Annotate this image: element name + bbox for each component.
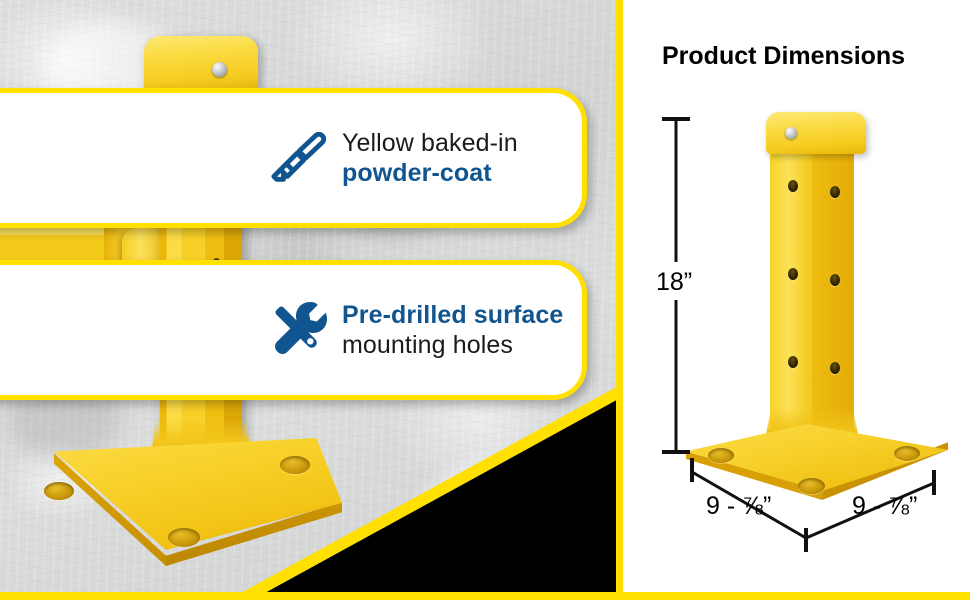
dimension-lines <box>0 0 970 600</box>
dimension-label-width-right: 9 - ⅞” <box>852 492 917 521</box>
dimension-label-height: 18” <box>656 268 692 297</box>
dimension-label-width-left: 9 - ⅞” <box>706 492 771 521</box>
bottom-accent-strip <box>0 592 970 600</box>
infographic-canvas: Yellow baked-in powder-coat <box>0 0 970 600</box>
